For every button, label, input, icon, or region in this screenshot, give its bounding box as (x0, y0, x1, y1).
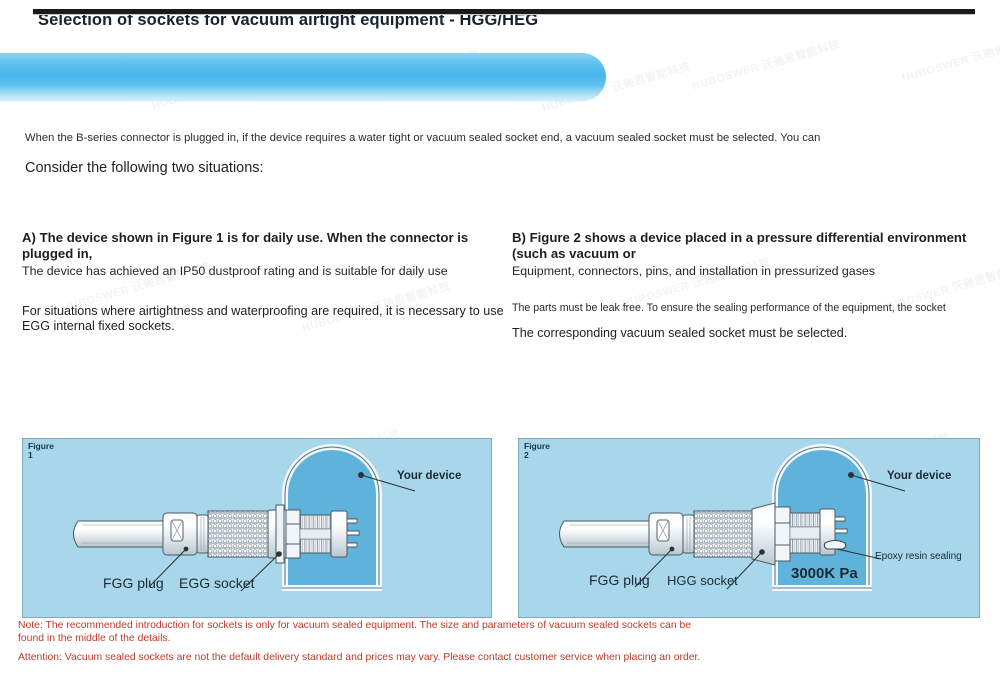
situation-a-body: For situations where airtightness and wa… (22, 304, 504, 335)
watermark: HUBOSWER 沃驰思智能科技 (690, 36, 842, 94)
notes-block: Note: The recommended introduction for s… (18, 620, 718, 664)
figure-1-label-line2: 1 (28, 451, 54, 460)
intro-lead-text: When the B-series connector is plugged i… (25, 132, 820, 144)
epoxy-sealing-shape (824, 541, 845, 550)
situation-b-column: B) Figure 2 shows a device placed in a p… (512, 230, 982, 342)
figure-1-callout-plug: FGG plug (103, 575, 164, 591)
figure-2-label-line2: 2 (524, 451, 550, 460)
attention-text: Attention: Vacuum sealed sockets are not… (18, 652, 718, 665)
top-divider-rule (33, 9, 975, 15)
figure-2-callout-plug: FGG plug (589, 572, 650, 588)
intro-subheading: Consider the following two situations: (25, 160, 264, 176)
note-text: Note: The recommended introduction for s… (18, 620, 718, 646)
page-title-banner (0, 53, 606, 101)
situation-b-heading: B) Figure 2 shows a device placed in a p… (512, 230, 982, 261)
figure-2-pressure-label: 3000K Pa (791, 565, 858, 582)
figure-2-label: Figure 2 (524, 442, 550, 460)
figure-2: Figure 2 (518, 438, 980, 618)
figure-2-illustration (519, 439, 979, 617)
figure-2-callout-device: Your device (887, 470, 951, 482)
figure-1: Figure 1 (22, 438, 492, 618)
figure-1-illustration (23, 439, 491, 617)
figure-1-label: Figure 1 (28, 442, 54, 460)
figure-1-callout-socket: EGG socket (179, 575, 254, 591)
figure-2-callout-socket: HGG socket (667, 573, 738, 588)
situation-b-body: The corresponding vacuum sealed socket m… (512, 326, 982, 341)
figure-2-callout-epoxy: Epoxy resin sealing (875, 551, 962, 562)
watermark: HUBOSWER 沃驰思智能科技 (900, 28, 1000, 86)
situation-a-subtext: The device has achieved an IP50 dustproo… (22, 264, 504, 280)
situation-a-heading: A) The device shown in Figure 1 is for d… (22, 230, 504, 261)
situation-a-column: A) The device shown in Figure 1 is for d… (22, 230, 504, 334)
situation-b-smalltext: The parts must be leak free. To ensure t… (512, 302, 982, 315)
situation-b-subtext: Equipment, connectors, pins, and install… (512, 264, 982, 280)
figure-1-callout-device: Your device (397, 470, 461, 482)
